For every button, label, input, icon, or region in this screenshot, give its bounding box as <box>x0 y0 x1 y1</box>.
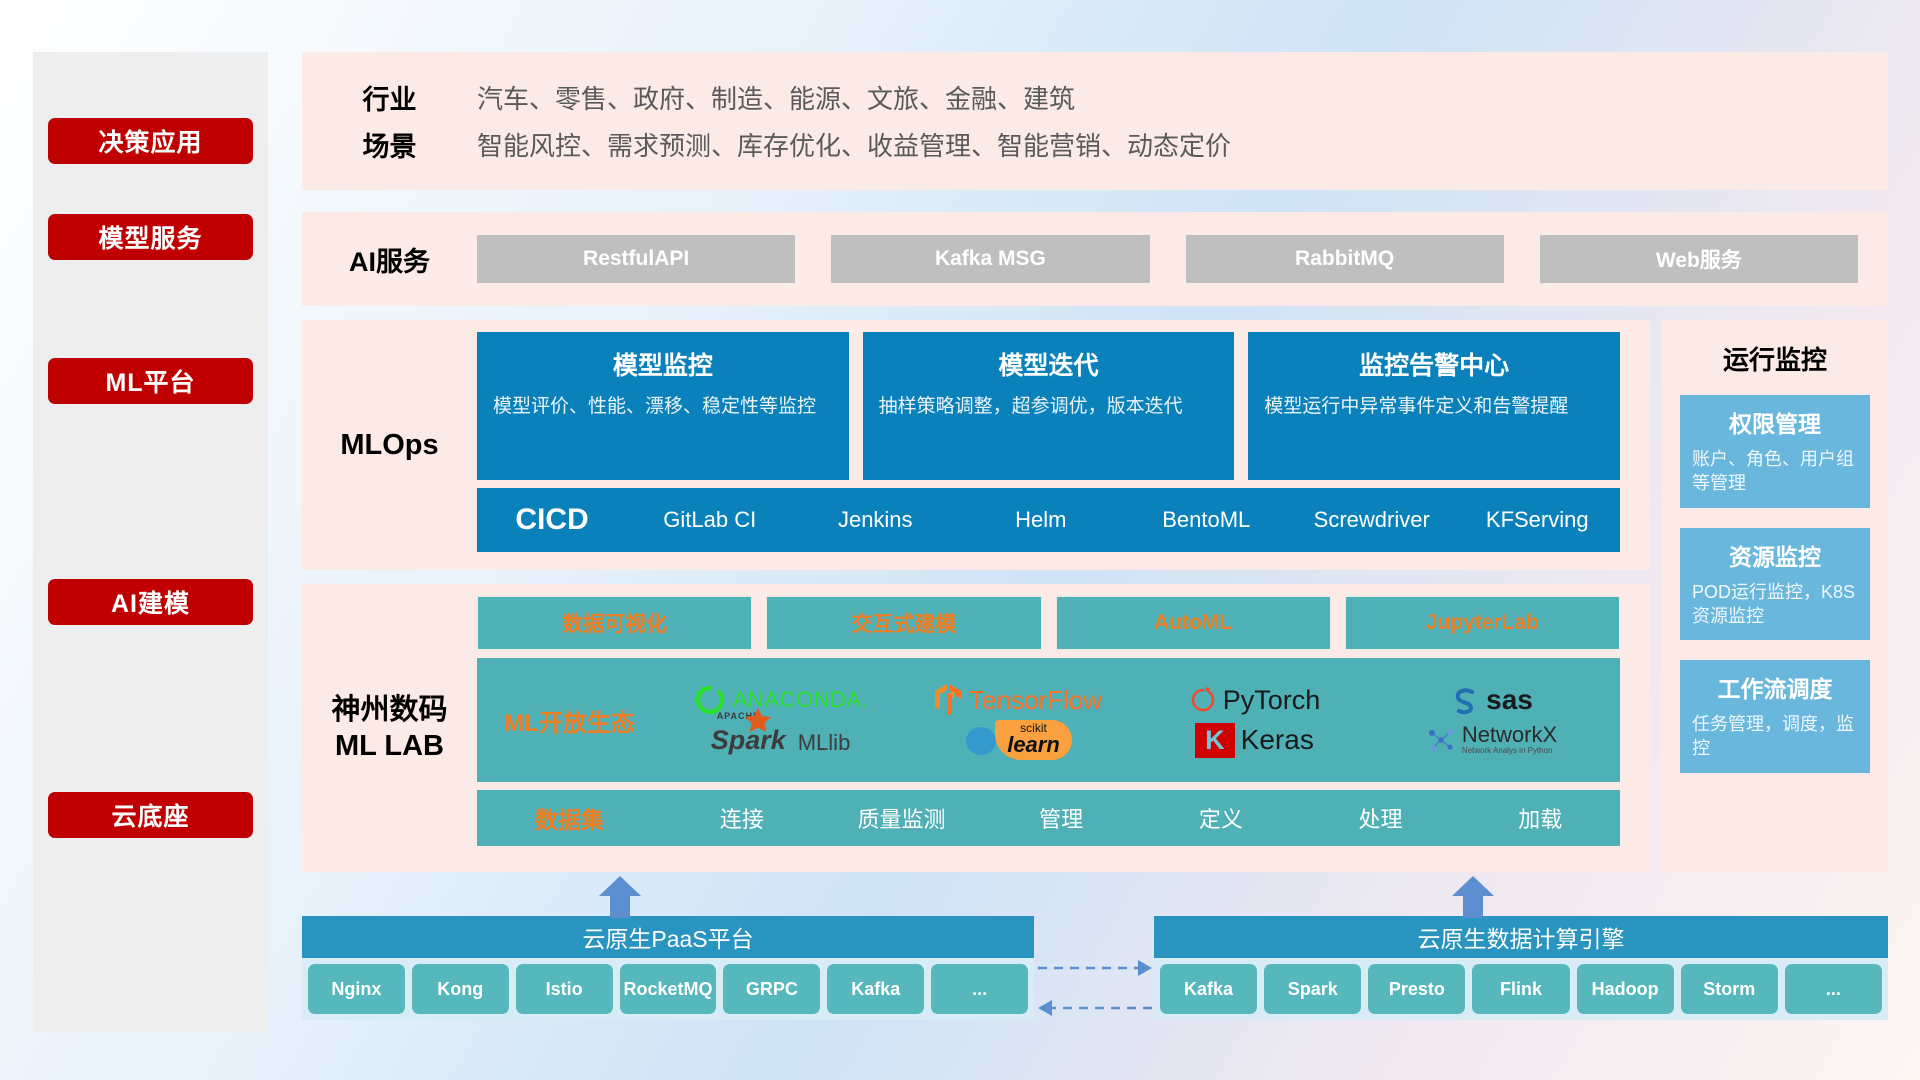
ai-service-kafka-msg[interactable]: Kafka MSG <box>831 235 1149 283</box>
dataset-item-load[interactable]: 加载 <box>1460 802 1620 834</box>
cloud-base-band: 云原生PaaS平台 Nginx Kong Istio RocketMQ GRPC… <box>302 888 1888 1038</box>
runtime-monitor-title: 运行监控 <box>1680 340 1870 377</box>
monitor-card-permission[interactable]: 权限管理 账户、角色、用户组等管理 <box>1680 395 1870 508</box>
mlops-card-alert-center[interactable]: 监控告警中心 模型运行中异常事件定义和告警提醒 <box>1248 332 1620 480</box>
industry-row: 行业 汽车、零售、政府、制造、能源、文旅、金融、建筑 <box>302 74 1888 121</box>
card-title: 权限管理 <box>1692 405 1858 439</box>
rail-item-model-service[interactable]: 模型服务 <box>48 214 253 260</box>
rail-item-ai-modeling[interactable]: AI建模 <box>48 579 253 625</box>
cicd-item-gitlab-ci[interactable]: GitLab CI <box>627 509 793 531</box>
keras-logo-text: Keras <box>1241 724 1314 756</box>
scenario-key: 场景 <box>302 125 477 164</box>
cloud-chip-more-data[interactable]: ... <box>1785 964 1882 1014</box>
industry-scenario-band: 行业 汽车、零售、政府、制造、能源、文旅、金融、建筑 场景 智能风控、需求预测、… <box>302 52 1888 190</box>
bidirectional-link-icon <box>1034 954 1156 1024</box>
cloud-chip-kafka[interactable]: Kafka <box>827 964 924 1014</box>
up-arrow-paas-icon <box>597 876 643 918</box>
platform-left-column: MLOps 模型监控 模型评价、性能、漂移、稳定性等监控 模型迭代 抽样策略调整… <box>302 320 1650 872</box>
tool-jupyterlab[interactable]: JupyterLab <box>1345 596 1620 650</box>
cloud-paas-chip-list: Nginx Kong Istio RocketMQ GRPC Kafka ... <box>302 958 1034 1020</box>
cloud-chip-storm[interactable]: Storm <box>1681 964 1778 1014</box>
cloud-chip-kafka-data[interactable]: Kafka <box>1160 964 1257 1014</box>
ml-lab-label-line1: 神州数码 <box>302 692 477 728</box>
monitor-card-workflow[interactable]: 工作流调度 任务管理，调度，监控 <box>1680 660 1870 773</box>
cicd-item-screwdriver[interactable]: Screwdriver <box>1289 509 1455 531</box>
monitor-card-resource[interactable]: 资源监控 POD运行监控，K8S资源监控 <box>1680 528 1870 641</box>
cloud-chip-istio[interactable]: Istio <box>516 964 613 1014</box>
cloud-chip-presto[interactable]: Presto <box>1368 964 1465 1014</box>
stack-layer-rail: 决策应用 模型服务 ML平台 AI建模 云底座 <box>33 52 268 1032</box>
spark-mllib-logo: APACHE Spark MLlib <box>711 725 851 756</box>
cicd-item-kfserving[interactable]: KFServing <box>1455 509 1621 531</box>
card-desc: 模型运行中异常事件定义和告警提醒 <box>1264 394 1604 420</box>
ml-open-ecosystem-label: ML开放生态 <box>477 703 662 738</box>
industry-key: 行业 <box>302 78 477 117</box>
cloud-data-title: 云原生数据计算引擎 <box>1154 916 1888 958</box>
scikit-learn-logo: scikit learn <box>963 720 1072 760</box>
cloud-data-engine-group: 云原生数据计算引擎 Kafka Spark Presto Flink Hadoo… <box>1154 916 1888 1020</box>
ai-service-restfulapi[interactable]: RestfulAPI <box>477 235 795 283</box>
scenario-row: 场景 智能风控、需求预测、库存优化、收益管理、智能营销、动态定价 <box>302 121 1888 168</box>
cloud-chip-spark[interactable]: Spark <box>1264 964 1361 1014</box>
dataset-item-define[interactable]: 定义 <box>1141 802 1301 834</box>
cicd-bar: CICD GitLab CI Jenkins Helm BentoML Scre… <box>477 488 1620 552</box>
ml-lab-tool-row: 数据可视化 交互式建模 AutoML JupyterLab <box>477 596 1620 650</box>
mllib-logo-text: MLlib <box>798 730 851 756</box>
spark-star-icon <box>743 707 773 733</box>
dataset-item-connect[interactable]: 连接 <box>662 802 822 834</box>
mlops-section: MLOps 模型监控 模型评价、性能、漂移、稳定性等监控 模型迭代 抽样策略调整… <box>302 320 1650 570</box>
keras-logo: K Keras <box>1195 723 1314 758</box>
networkx-logo-text: NetworkX <box>1462 724 1557 746</box>
cloud-paas-title: 云原生PaaS平台 <box>302 916 1034 958</box>
cicd-item-bentoml[interactable]: BentoML <box>1124 509 1290 531</box>
cloud-chip-kong[interactable]: Kong <box>412 964 509 1014</box>
dataset-row: 数据集 连接 质量监测 管理 定义 处理 加载 <box>477 790 1620 846</box>
networkx-mark-icon <box>1426 725 1456 755</box>
rail-item-label: 模型服务 <box>98 219 202 255</box>
cloud-chip-rocketmq[interactable]: RocketMQ <box>620 964 717 1014</box>
tool-automl[interactable]: AutoML <box>1056 596 1331 650</box>
rail-item-cloud-base[interactable]: 云底座 <box>48 792 253 838</box>
card-desc: 抽样策略调整，超参调优，版本迭代 <box>879 394 1219 420</box>
sas-mark-icon <box>1450 684 1480 716</box>
ai-service-rabbitmq[interactable]: RabbitMQ <box>1186 235 1504 283</box>
scikit-blue-blob-icon <box>963 722 999 758</box>
dataset-item-manage[interactable]: 管理 <box>981 802 1141 834</box>
sas-logo-text: sas <box>1486 684 1533 716</box>
card-desc: POD运行监控，K8S资源监控 <box>1692 580 1858 629</box>
mlops-card-model-iteration[interactable]: 模型迭代 抽样策略调整，超参调优，版本迭代 <box>863 332 1235 480</box>
networkx-logo: NetworkX Network Analys in Python <box>1426 724 1557 756</box>
rail-item-label: AI建模 <box>111 584 190 620</box>
cicd-item-helm[interactable]: Helm <box>958 509 1124 531</box>
networkx-subtitle: Network Analys in Python <box>1462 746 1557 756</box>
card-title: 工作流调度 <box>1692 670 1858 704</box>
cloud-chip-hadoop[interactable]: Hadoop <box>1577 964 1674 1014</box>
card-title: 监控告警中心 <box>1264 346 1604 382</box>
ai-service-band: AI服务 RestfulAPI Kafka MSG RabbitMQ Web服务 <box>302 212 1888 306</box>
learn-text: learn <box>1007 734 1060 756</box>
scikit-orange-blob: scikit learn <box>995 720 1072 760</box>
pytorch-logo-text: PyTorch <box>1223 685 1321 716</box>
card-title: 模型监控 <box>493 346 833 382</box>
rail-item-label: 云底座 <box>111 797 189 833</box>
mlops-card-list: 模型监控 模型评价、性能、漂移、稳定性等监控 模型迭代 抽样策略调整，超参调优，… <box>477 332 1620 480</box>
ai-service-list: RestfulAPI Kafka MSG RabbitMQ Web服务 <box>477 235 1888 283</box>
mlops-body: 模型监控 模型评价、性能、漂移、稳定性等监控 模型迭代 抽样策略调整，超参调优，… <box>477 332 1650 558</box>
rail-item-label: 决策应用 <box>98 123 202 159</box>
dataset-item-process[interactable]: 处理 <box>1301 802 1461 834</box>
cicd-item-jenkins[interactable]: Jenkins <box>793 509 959 531</box>
ml-lab-body: 数据可视化 交互式建模 AutoML JupyterLab ML开放生态 <box>477 596 1650 860</box>
tool-data-visualization[interactable]: 数据可视化 <box>477 596 752 650</box>
cicd-label: CICD <box>477 503 627 537</box>
cloud-paas-group: 云原生PaaS平台 Nginx Kong Istio RocketMQ GRPC… <box>302 916 1034 1020</box>
cloud-chip-nginx[interactable]: Nginx <box>308 964 405 1014</box>
pytorch-logo: PyTorch <box>1189 684 1321 716</box>
card-desc: 账户、角色、用户组等管理 <box>1692 447 1858 496</box>
dataset-item-quality[interactable]: 质量监测 <box>822 802 982 834</box>
card-title: 资源监控 <box>1692 538 1858 572</box>
cloud-data-chip-list: Kafka Spark Presto Flink Hadoop Storm ..… <box>1154 958 1888 1020</box>
runtime-monitor-panel: 运行监控 权限管理 账户、角色、用户组等管理 资源监控 POD运行监控，K8S资… <box>1662 320 1888 872</box>
cloud-chip-more[interactable]: ... <box>931 964 1028 1014</box>
card-title: 模型迭代 <box>879 346 1219 382</box>
mlops-label: MLOps <box>302 427 477 463</box>
dataset-label: 数据集 <box>477 801 662 835</box>
ml-lab-label: 神州数码 ML LAB <box>302 692 477 765</box>
ai-service-label: AI服务 <box>302 240 477 279</box>
rail-item-ml-platform[interactable]: ML平台 <box>48 358 253 404</box>
rail-item-decision-app[interactable]: 决策应用 <box>48 118 253 164</box>
pytorch-mark-icon <box>1189 684 1217 716</box>
ai-service-web[interactable]: Web服务 <box>1540 235 1858 283</box>
ml-lab-label-line2: ML LAB <box>302 728 477 764</box>
scenario-value: 智能风控、需求预测、库存优化、收益管理、智能营销、动态定价 <box>477 126 1231 163</box>
industry-value: 汽车、零售、政府、制造、能源、文旅、金融、建筑 <box>477 79 1075 116</box>
tensorflow-logo: TensorFlow <box>933 683 1102 717</box>
sas-logo: sas <box>1450 684 1533 716</box>
rail-item-label: ML平台 <box>105 363 195 399</box>
mlops-card-model-monitoring[interactable]: 模型监控 模型评价、性能、漂移、稳定性等监控 <box>477 332 849 480</box>
ml-open-ecosystem: ML开放生态 ANACONDA. <box>477 658 1620 782</box>
platform-band: MLOps 模型监控 模型评价、性能、漂移、稳定性等监控 模型迭代 抽样策略调整… <box>302 320 1888 872</box>
cloud-chip-grpc[interactable]: GRPC <box>723 964 820 1014</box>
card-desc: 模型评价、性能、漂移、稳定性等监控 <box>493 394 833 420</box>
ml-lab-section: 神州数码 ML LAB 数据可视化 交互式建模 AutoML JupyterLa… <box>302 584 1650 872</box>
ecosystem-logo-grid: ANACONDA. TensorFlow <box>662 680 1610 760</box>
keras-mark-icon: K <box>1195 723 1235 758</box>
up-arrow-data-icon <box>1450 876 1496 918</box>
tensorflow-logo-text: TensorFlow <box>969 685 1102 716</box>
card-desc: 任务管理，调度，监控 <box>1692 712 1858 761</box>
tool-interactive-modeling[interactable]: 交互式建模 <box>766 596 1041 650</box>
cloud-chip-flink[interactable]: Flink <box>1472 964 1569 1014</box>
tensorflow-mark-icon <box>933 683 963 717</box>
